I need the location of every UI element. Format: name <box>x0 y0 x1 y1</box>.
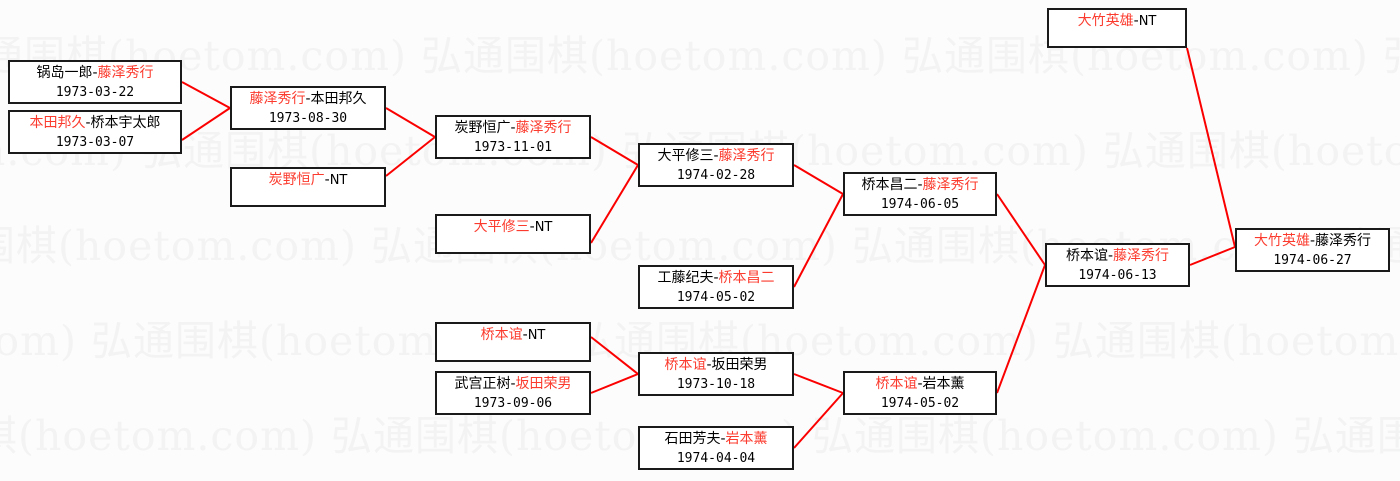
match-players: 炭野恒广-藤泽秀行 <box>437 119 589 138</box>
match-node[interactable]: 桥本谊-岩本薰1974-05-02 <box>843 371 997 415</box>
match-date: 1974-06-05 <box>845 195 995 214</box>
player-right: 藤泽秀行 <box>1113 248 1169 264</box>
match-node[interactable]: 大竹英雄-藤泽秀行1974-06-27 <box>1235 228 1390 272</box>
player-right: 坂田荣男 <box>712 357 768 373</box>
connector-line <box>997 265 1045 393</box>
match-players: 桥本谊-岩本薰 <box>845 375 995 394</box>
player-left: 桥本昌二 <box>861 177 917 193</box>
match-node[interactable]: 炭野恒广-NT <box>230 167 386 207</box>
player-left: 工藤纪夫 <box>657 270 713 286</box>
watermark-layer: 弘通围棋(hoetom.com) 弘通围棋(hoetom.com) 弘通围棋(h… <box>0 0 1400 481</box>
match-date: 1974-04-04 <box>640 449 792 468</box>
match-date: 1974-05-02 <box>845 394 995 413</box>
match-node[interactable]: 本田邦久-桥本宇太郎1973-03-07 <box>8 110 182 154</box>
player-right: 藤泽秀行 <box>1315 233 1371 249</box>
connector-line <box>1190 247 1235 265</box>
player-right: NT <box>330 173 348 188</box>
match-node[interactable]: 武宫正树-坂田荣男1973-09-06 <box>435 371 591 415</box>
connector-line <box>1187 48 1235 247</box>
match-players: 桥本谊-藤泽秀行 <box>1047 247 1188 266</box>
player-right: 桥本宇太郎 <box>91 115 161 131</box>
match-node[interactable]: 大平修三-NT <box>435 214 591 254</box>
match-players: 桥本谊-NT <box>437 326 589 345</box>
player-left: 桥本谊 <box>1066 248 1108 264</box>
connector-line <box>997 194 1045 265</box>
connector-line <box>794 393 843 448</box>
player-left: 大平修三 <box>657 148 713 164</box>
connector-line <box>386 137 435 176</box>
match-players: 大平修三-藤泽秀行 <box>640 147 792 166</box>
player-right: 藤泽秀行 <box>98 65 154 81</box>
player-right: 岩本薰 <box>923 376 965 392</box>
player-right: 坂田荣男 <box>516 376 572 392</box>
match-node[interactable]: 大竹英雄-NT <box>1047 8 1187 48</box>
match-players: 石田芳夫-岩本薰 <box>640 430 792 449</box>
match-players: 武宫正树-坂田荣男 <box>437 375 589 394</box>
player-left: 武宫正树 <box>454 376 510 392</box>
match-players: 工藤纪夫-桥本昌二 <box>640 269 792 288</box>
match-date: 1973-08-30 <box>232 109 384 128</box>
match-players: 炭野恒广-NT <box>232 171 384 190</box>
match-node[interactable]: 桥本昌二-藤泽秀行1974-06-05 <box>843 172 997 216</box>
match-node[interactable]: 桥本谊-藤泽秀行1974-06-13 <box>1045 243 1190 287</box>
player-left: 大竹英雄 <box>1078 13 1134 29</box>
player-right: 岩本薰 <box>726 431 768 447</box>
player-left: 炭野恒广 <box>269 172 325 188</box>
match-node[interactable]: 石田芳夫-岩本薰1974-04-04 <box>638 426 794 470</box>
match-date: 1974-06-13 <box>1047 266 1188 285</box>
match-date: 1974-06-27 <box>1237 251 1388 270</box>
match-players: 本田邦久-桥本宇太郎 <box>10 114 180 133</box>
match-date: 1973-10-18 <box>640 375 792 394</box>
match-date: 1974-05-02 <box>640 288 792 307</box>
connector-lines <box>0 0 1400 481</box>
player-left: 藤泽秀行 <box>249 91 305 107</box>
connector-line <box>591 165 638 243</box>
connector-line <box>794 374 843 393</box>
player-left: 桥本谊 <box>664 357 706 373</box>
match-node[interactable]: 大平修三-藤泽秀行1974-02-28 <box>638 143 794 187</box>
watermark-text: 弘通围棋(hoetom.com) 弘通围棋(hoetom.com) 弘通围棋(h… <box>0 226 1400 267</box>
match-date: 1973-11-01 <box>437 138 589 157</box>
player-right: 桥本昌二 <box>719 270 775 286</box>
connector-line <box>591 137 638 165</box>
match-node[interactable]: 工藤纪夫-桥本昌二1974-05-02 <box>638 265 794 309</box>
match-players: 桥本谊-坂田荣男 <box>640 356 792 375</box>
match-players: 桥本昌二-藤泽秀行 <box>845 176 995 195</box>
player-right: 藤泽秀行 <box>719 148 775 164</box>
connector-line <box>794 165 843 194</box>
player-left: 石田芳夫 <box>664 431 720 447</box>
match-node[interactable]: 锅岛一郎-藤泽秀行1973-03-22 <box>8 60 182 104</box>
player-left: 桥本谊 <box>875 376 917 392</box>
player-right: NT <box>528 328 546 343</box>
match-date: 1973-03-07 <box>10 133 180 152</box>
match-players: 大平修三-NT <box>437 218 589 237</box>
player-right: NT <box>535 220 553 235</box>
player-left: 本田邦久 <box>29 115 85 131</box>
match-node[interactable]: 藤泽秀行-本田邦久1973-08-30 <box>230 86 386 130</box>
match-players: 大竹英雄-NT <box>1049 12 1185 31</box>
match-date: 1973-09-06 <box>437 394 589 413</box>
connector-line <box>794 194 843 287</box>
watermark-text: 弘通围棋(hoetom.com) 弘通围棋(hoetom.com) 弘通围棋(h… <box>0 36 1400 77</box>
match-node[interactable]: 桥本谊-坂田荣男1973-10-18 <box>638 352 794 396</box>
connector-line <box>182 82 230 108</box>
player-left: 桥本谊 <box>481 327 523 343</box>
player-left: 大竹英雄 <box>1254 233 1310 249</box>
connector-line <box>591 337 638 374</box>
player-right: 本田邦久 <box>311 91 367 107</box>
player-left: 大平修三 <box>474 219 530 235</box>
connector-line <box>182 108 230 140</box>
connector-line <box>386 108 435 137</box>
match-date: 1973-03-22 <box>10 83 180 102</box>
match-node[interactable]: 炭野恒广-藤泽秀行1973-11-01 <box>435 115 591 159</box>
player-left: 炭野恒广 <box>454 120 510 136</box>
player-right: 藤泽秀行 <box>516 120 572 136</box>
match-players: 锅岛一郎-藤泽秀行 <box>10 64 180 83</box>
player-right: NT <box>1139 14 1157 29</box>
bracket-diagram: 弘通围棋(hoetom.com) 弘通围棋(hoetom.com) 弘通围棋(h… <box>0 0 1400 481</box>
match-players: 大竹英雄-藤泽秀行 <box>1237 232 1388 251</box>
player-left: 锅岛一郎 <box>36 65 92 81</box>
match-date: 1974-02-28 <box>640 166 792 185</box>
match-players: 藤泽秀行-本田邦久 <box>232 90 384 109</box>
connector-line <box>591 374 638 393</box>
match-node[interactable]: 桥本谊-NT <box>435 322 591 362</box>
player-right: 藤泽秀行 <box>923 177 979 193</box>
